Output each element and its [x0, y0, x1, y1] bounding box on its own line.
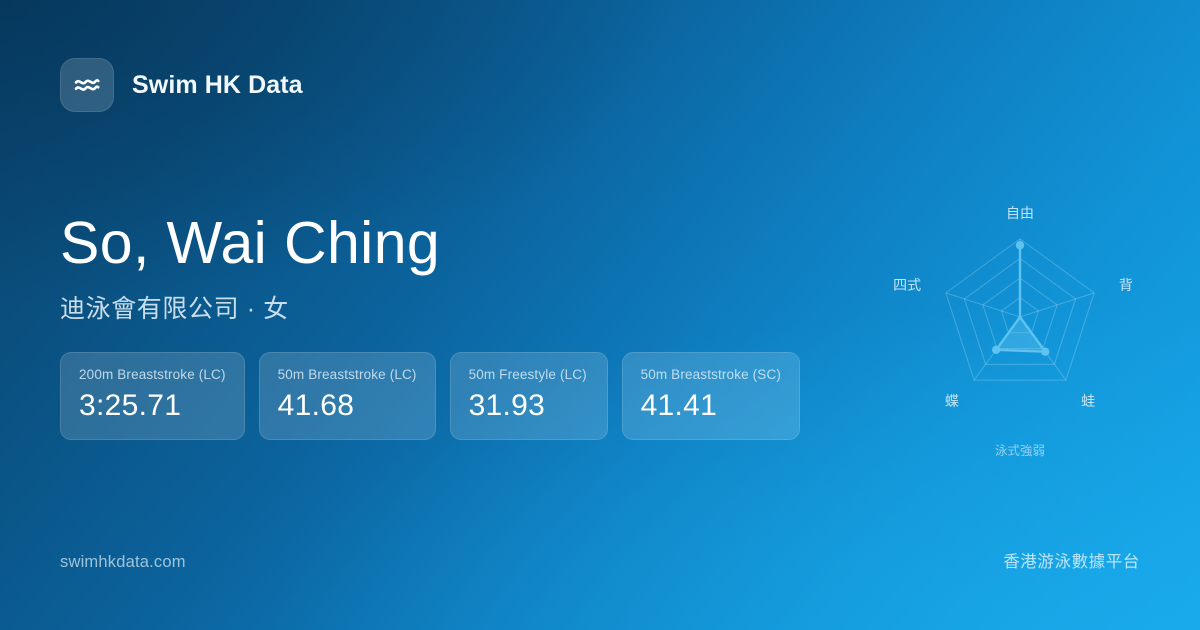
stat-card-value: 3:25.71 — [79, 389, 226, 423]
radar-spoke — [1020, 293, 1094, 317]
radar-spoke — [946, 293, 1020, 317]
site-url-footer: swimhkdata.com — [60, 553, 186, 572]
stat-card: 50m Breaststroke (SC) 41.41 — [622, 352, 800, 440]
stat-card-label: 50m Breaststroke (SC) — [641, 367, 781, 382]
stat-card-label: 50m Breaststroke (LC) — [278, 367, 417, 382]
stat-card-value: 41.41 — [641, 389, 781, 423]
stat-card: 200m Breaststroke (LC) 3:25.71 — [60, 352, 245, 440]
brand-lockup: Swim HK Data — [60, 58, 303, 112]
radar-caption: 泳式強弱 — [995, 444, 1045, 458]
stat-card-value: 31.93 — [469, 389, 589, 423]
app-logo-badge — [60, 58, 114, 112]
stat-card-value: 41.68 — [278, 389, 417, 423]
stat-card-label: 50m Freestyle (LC) — [469, 367, 589, 382]
site-tagline-footer: 香港游泳數據平台 — [1003, 548, 1140, 572]
radar-data-point — [992, 346, 1000, 354]
og-share-card: Swim HK Data So, Wai Ching 迪泳會有限公司 · 女 2… — [0, 0, 1200, 630]
brand-name: Swim HK Data — [132, 71, 303, 100]
stat-card-label: 200m Breaststroke (LC) — [79, 367, 226, 382]
radar-axis-labels: 自由背蛙蝶四式 — [893, 205, 1133, 409]
radar-data-point — [1016, 241, 1024, 249]
radar-axis-label: 背 — [1119, 277, 1133, 293]
radar-series-area — [996, 245, 1045, 351]
radar-axis-label: 蝶 — [945, 393, 959, 409]
radar-axis-label: 自由 — [1006, 205, 1034, 221]
stroke-strength-radar-chart: 自由背蛙蝶四式 泳式強弱 — [870, 168, 1170, 468]
radar-axis-label: 四式 — [893, 277, 921, 293]
stat-card: 50m Freestyle (LC) 31.93 — [450, 352, 608, 440]
athlete-name: So, Wai Ching — [60, 212, 440, 275]
stat-card: 50m Breaststroke (LC) 41.68 — [259, 352, 436, 440]
athlete-meta: 迪泳會有限公司 · 女 — [60, 289, 440, 325]
radar-data-point — [1041, 348, 1049, 356]
best-times-list: 200m Breaststroke (LC) 3:25.71 50m Breas… — [60, 352, 800, 440]
wave-icon — [72, 73, 102, 97]
athlete-hero: So, Wai Ching 迪泳會有限公司 · 女 — [60, 212, 440, 325]
radar-axis-label: 蛙 — [1081, 393, 1095, 409]
